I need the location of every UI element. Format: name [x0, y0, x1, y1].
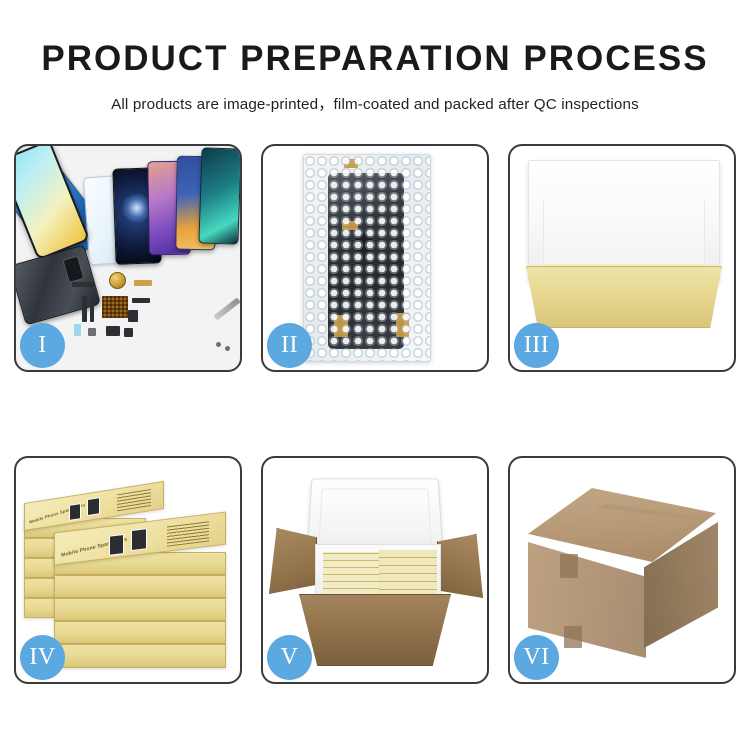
page-subtitle: All products are image-printed，film-coat… [0, 92, 750, 114]
speaker-module-icon [109, 272, 126, 289]
carton-tape-upper [560, 554, 578, 578]
step-badge-5: V [267, 635, 312, 680]
stacked-box-front-5 [54, 644, 226, 668]
kraft-inner-box [526, 266, 722, 328]
box-label-lines-front [167, 521, 209, 547]
tape-piece-3 [334, 315, 348, 337]
carton-tape-lower [564, 626, 582, 648]
page-title: PRODUCT PREPARATION PROCESS [0, 41, 750, 76]
part-small-5 [74, 324, 81, 336]
step-panel-products-and-parts: I [14, 144, 242, 372]
phone-teal-icon [198, 147, 240, 244]
carton-flap-left [269, 528, 317, 594]
step-badge-4: IV [20, 635, 65, 680]
part-small-4 [124, 328, 133, 337]
box-label-phone-2-front [131, 528, 147, 551]
box-label-phone-1-front [109, 534, 124, 556]
part-chip-2 [134, 280, 152, 286]
step-badge-3: III [514, 323, 559, 368]
box-label-phone-2-rear [87, 497, 100, 516]
box-label-lines-rear [117, 489, 151, 511]
screwdriver-icon [213, 297, 240, 320]
tape-piece-4 [396, 313, 409, 337]
step-panel-boxes-stacked: Mobile Phone Spare Parts Mobile Phone Sp… [14, 456, 242, 684]
product-preparation-infographic: PRODUCT PREPARATION PROCESS All products… [0, 0, 750, 750]
part-small-2 [88, 328, 96, 336]
stacked-box-front-2 [54, 575, 226, 598]
part-flex-cable-1 [82, 296, 87, 322]
stacked-box-front-4 [54, 621, 226, 644]
part-flex-cable-2 [90, 298, 94, 322]
kraft-boxes-row-right [379, 550, 437, 598]
screw-icon-1 [216, 342, 221, 347]
tape-piece-2 [342, 221, 358, 230]
step-panel-sealed-carton: VI [508, 456, 736, 684]
header: PRODUCT PREPARATION PROCESS All products… [0, 0, 750, 114]
wrapped-flex-cable [356, 233, 372, 337]
screw-icon-2 [225, 346, 230, 351]
tape-piece-1 [344, 159, 358, 168]
step-badge-1: I [20, 323, 65, 368]
part-small-3 [106, 326, 120, 336]
process-steps-grid: I II [14, 144, 736, 684]
step-panel-bubble-wrap-bagging: II [261, 144, 489, 372]
step-panel-inner-box-packing: III [508, 144, 736, 372]
step-badge-2: II [267, 323, 312, 368]
bubble-wrap-bag [303, 154, 431, 362]
carton-flap-right [437, 534, 483, 598]
part-small-1 [128, 310, 138, 322]
part-ic-grid [102, 296, 128, 318]
step-badge-6: VI [514, 635, 559, 680]
step-panel-foam-carton-packing: V [261, 456, 489, 684]
part-flex-cable-3 [132, 298, 150, 303]
stacked-box-front-3 [54, 598, 226, 621]
part-chip-1 [72, 282, 94, 287]
box-label-phone-1-rear [69, 503, 81, 521]
carton-front-wall [299, 594, 451, 666]
